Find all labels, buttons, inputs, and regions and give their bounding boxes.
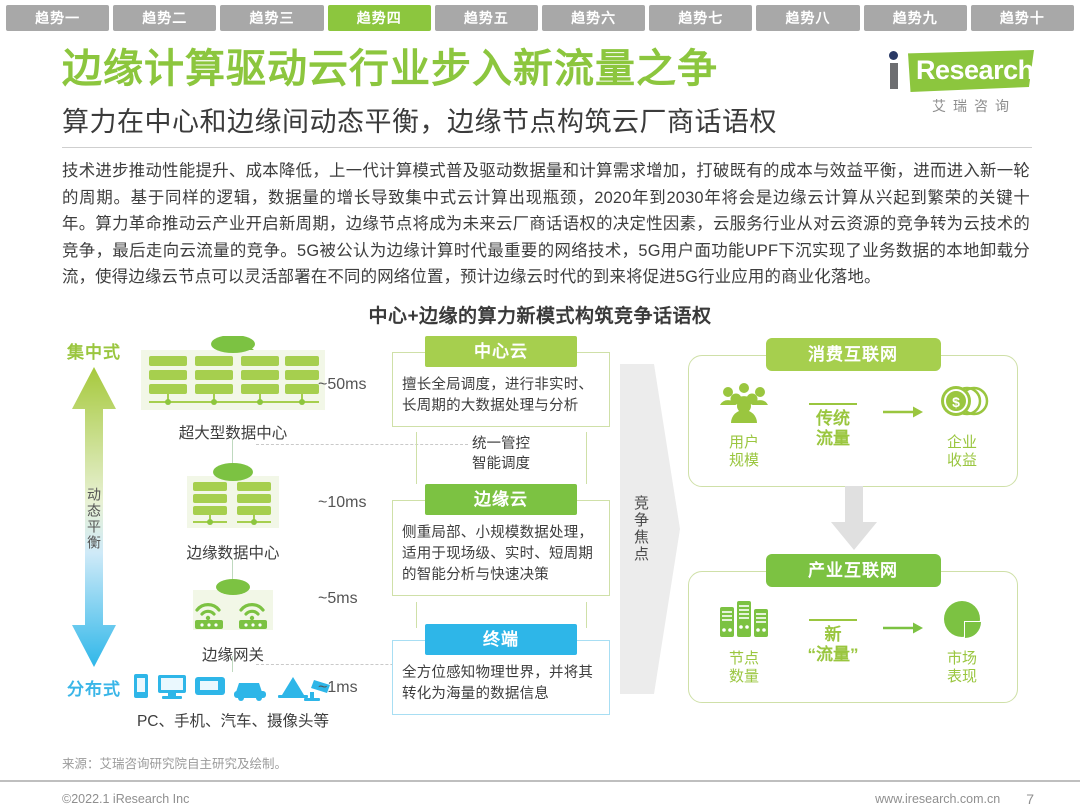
node-node-count: 节点 数量	[705, 597, 783, 686]
card-terminal: 终端 全方位感知物理世界，并将其转化为海量的数据信息	[392, 624, 610, 715]
page-footer: ©2022.1 iResearch Inc www.iresearch.com.…	[0, 780, 1080, 810]
flow-traditional-line2: 流量	[783, 429, 883, 449]
node-market-performance-line2: 表现	[923, 668, 1001, 686]
axis-top-label: 集中式	[67, 338, 121, 363]
tier-label-mega-datacenter: 超大型数据中心	[128, 421, 338, 443]
latency-label-mega: ~50ms	[318, 376, 388, 394]
terminal-devices-icon	[130, 670, 336, 702]
internet-panels: 消费互联网	[688, 336, 1018, 718]
logo-chinese-name: 艾瑞咨询	[886, 96, 1036, 116]
axis-middle-label: 动态平衡	[86, 487, 102, 551]
node-market-performance: 市场 表现	[923, 597, 1001, 686]
trend-tabbar: 趋势一 趋势二 趋势三 趋势四 趋势五 趋势六 趋势七 趋势八 趋势九 趋势十	[0, 0, 1080, 34]
flow-traditional: 传统 流量	[783, 403, 883, 448]
logo-i-dot-icon	[889, 51, 898, 60]
panel-industrial-internet: 产业互联网	[688, 554, 1018, 703]
node-user-scale-line1: 用户	[705, 434, 783, 452]
slide-page: 趋势一 趋势二 趋势三 趋势四 趋势五 趋势六 趋势七 趋势八 趋势九 趋势十 …	[0, 0, 1080, 810]
tab-trend-9[interactable]: 趋势九	[864, 5, 967, 31]
page-number: 7	[1026, 791, 1034, 807]
source-note: 来源：艾瑞咨询研究院自主研究及绘制。	[62, 753, 287, 772]
card-central-cloud: 中心云 擅长全局调度，进行非实时、长周期的大数据处理与分析	[392, 336, 610, 427]
centralized-distributed-axis: 集中式 动态平衡 分布式	[52, 338, 136, 700]
footer-website[interactable]: www.iresearch.com.cn	[875, 792, 1000, 806]
cloud-tier-cards: 中心云 擅长全局调度，进行非实时、长周期的大数据处理与分析 统一管控 智能调度 …	[392, 334, 610, 722]
tier-edge-gateway: 边缘网关	[128, 578, 338, 665]
coin-dollar-icon: $	[934, 381, 990, 425]
latency-label-edge-dc: ~10ms	[318, 494, 388, 512]
tab-trend-8[interactable]: 趋势八	[756, 5, 859, 31]
competition-focus-label: 竞争焦点	[630, 495, 651, 563]
flow-new-line1: 新	[783, 625, 883, 645]
logo-wordmark: Research	[916, 55, 1034, 86]
node-enterprise-revenue-label: 企业 收益	[923, 434, 1001, 470]
node-user-scale: 用户 规模	[705, 381, 783, 470]
figure-title: 中心+边缘的算力新模式构筑竞争话语权	[0, 301, 1080, 328]
node-market-performance-label: 市场 表现	[923, 650, 1001, 686]
tier-label-edge-gateway: 边缘网关	[128, 643, 338, 665]
card-edge-cloud-title: 边缘云	[425, 484, 577, 515]
tab-trend-3[interactable]: 趋势三	[220, 5, 323, 31]
tab-trend-5[interactable]: 趋势五	[435, 5, 538, 31]
axis-bottom-label: 分布式	[67, 675, 121, 700]
pie-chart-icon	[934, 597, 990, 641]
slide-header: 边缘计算驱动云行业步入新流量之争 算力在中心和边缘间动态平衡，边缘节点构筑云厂商…	[0, 34, 1080, 148]
datacenter-edge-icon	[133, 462, 333, 534]
node-node-count-line1: 节点	[705, 650, 783, 668]
footer-copyright: ©2022.1 iResearch Inc	[62, 792, 189, 806]
arrow-right-icon-2	[883, 621, 923, 635]
card-terminal-title: 终端	[425, 624, 577, 655]
tier-edge-datacenter: 边缘数据中心	[128, 462, 338, 563]
node-enterprise-revenue-line2: 收益	[923, 452, 1001, 470]
infrastructure-tiers: 超大型数据中心	[128, 334, 338, 714]
flow-new: 新 “流量”	[783, 619, 883, 664]
tab-trend-7[interactable]: 趋势七	[649, 5, 752, 31]
tab-trend-4[interactable]: 趋势四	[328, 5, 431, 31]
card-edge-cloud: 边缘云 侧重局部、小规模数据处理，适用于现场级、实时、短周期的智能分析与快速决策	[392, 484, 610, 596]
card-central-cloud-title: 中心云	[425, 336, 577, 367]
logo-mark: Research	[886, 48, 1036, 94]
transition-down-arrow	[831, 486, 877, 555]
node-market-performance-line1: 市场	[923, 650, 1001, 668]
tier-label-terminals: PC、手机、汽车、摄像头等	[128, 709, 338, 731]
tier-terminals: PC、手机、汽车、摄像头等	[128, 670, 338, 731]
tab-trend-6[interactable]: 趋势六	[542, 5, 645, 31]
panel-consumer-internet-title: 消费互联网	[766, 338, 941, 371]
dynamic-balance-arrow-icon: 动态平衡	[72, 367, 116, 671]
node-user-scale-label: 用户 规模	[705, 434, 783, 470]
server-rack-icon	[716, 597, 772, 641]
node-enterprise-revenue: $ 企业 收益	[923, 381, 1001, 470]
competition-focus-arrow: 竞争焦点	[620, 364, 680, 694]
latency-label-terminal: ~1ms	[318, 679, 388, 697]
node-user-scale-line2: 规模	[705, 452, 783, 470]
flow-new-line2: “流量”	[783, 645, 883, 665]
tier-label-edge-datacenter: 边缘数据中心	[128, 541, 338, 563]
flow-line-icon-2	[809, 619, 857, 621]
unified-control-line2: 智能调度	[392, 454, 610, 474]
body-paragraph: 技术进步推动性能提升、成本降低，上一代计算模式普及驱动数据量和计算需求增加，打破…	[62, 158, 1030, 291]
flow-traditional-line1: 传统	[783, 409, 883, 429]
tab-trend-10[interactable]: 趋势十	[971, 5, 1074, 31]
panel-industrial-internet-title: 产业互联网	[766, 554, 941, 587]
panel-industrial-internet-body: 节点 数量 新 “流量”	[688, 571, 1018, 703]
node-node-count-label: 节点 数量	[705, 650, 783, 686]
arrow-down-icon	[831, 486, 877, 550]
edge-gateway-icon	[133, 578, 333, 636]
iresearch-logo: Research 艾瑞咨询	[886, 48, 1036, 116]
latency-label-gateway: ~5ms	[318, 590, 388, 608]
unified-control-line1: 统一管控	[392, 434, 610, 454]
header-divider	[62, 147, 1032, 148]
logo-i-stem-icon	[890, 63, 898, 89]
unified-control-note: 统一管控 智能调度	[392, 434, 610, 475]
node-enterprise-revenue-line1: 企业	[923, 434, 1001, 452]
footer-right: www.iresearch.com.cn 7	[875, 791, 1034, 807]
node-node-count-line2: 数量	[705, 668, 783, 686]
panel-consumer-internet-body: 用户 规模 传统 流量	[688, 355, 1018, 487]
svg-text:$: $	[952, 394, 960, 410]
tab-trend-1[interactable]: 趋势一	[6, 5, 109, 31]
flow-line-icon	[809, 403, 857, 405]
arrow-right-icon	[883, 405, 923, 419]
panel-consumer-internet: 消费互联网	[688, 338, 1018, 487]
users-group-icon	[716, 381, 772, 425]
tier-mega-datacenter: 超大型数据中心	[128, 336, 338, 443]
architecture-diagram: 集中式 动态平衡 分布式	[0, 334, 1080, 726]
tab-trend-2[interactable]: 趋势二	[113, 5, 216, 31]
datacenter-large-icon	[133, 336, 333, 414]
